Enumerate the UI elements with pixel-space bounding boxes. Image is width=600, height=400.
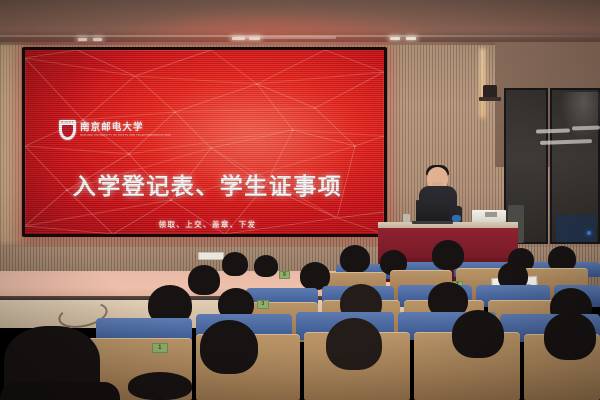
audience-head <box>452 310 504 358</box>
presenter-hand <box>452 215 461 222</box>
ceiling-light <box>78 38 87 41</box>
wall-speaker-bracket <box>479 97 501 101</box>
ceiling-light <box>232 37 245 40</box>
ceiling-light <box>93 38 102 41</box>
seat-number-tag: 3 <box>257 300 269 309</box>
wall-outlet-plate <box>198 252 224 260</box>
led-screen: N J U P T 南京邮电大学 NANJING UNIVERSITY OF P… <box>25 50 384 234</box>
status-led-icon <box>587 231 591 235</box>
seat-number-tag: 1 <box>152 343 168 353</box>
audience-head <box>326 318 382 370</box>
audience-head <box>432 240 464 270</box>
university-name-en: NANJING UNIVERSITY OF POSTS AND TELECOMM… <box>80 134 171 137</box>
slide-title: 入学登记表、学生证事项 <box>25 167 384 201</box>
audience-head <box>340 245 370 273</box>
wall-strip-light <box>480 48 485 118</box>
audience-head-foreground <box>128 372 192 400</box>
podium-box-label <box>485 212 497 217</box>
ceiling-light <box>249 37 260 40</box>
lecture-hall-scene: N J U P T 南京邮电大学 NANJING UNIVERSITY OF P… <box>0 0 600 400</box>
university-crest-icon: N J U P T <box>59 120 76 140</box>
laptop-screen[interactable] <box>416 200 449 223</box>
audience-shoulders <box>0 382 120 400</box>
audience-head <box>222 252 248 276</box>
glass-reflection <box>560 92 600 140</box>
slide-logo: N J U P T 南京邮电大学 NANJING UNIVERSITY OF P… <box>59 120 171 140</box>
audience-head <box>200 320 258 374</box>
led-screen-frame: N J U P T 南京邮电大学 NANJING UNIVERSITY OF P… <box>22 47 387 237</box>
seat-number-tag: 9 <box>279 271 290 279</box>
equipment-case <box>556 215 596 242</box>
podium-small-item <box>403 214 410 222</box>
crest-initials: N J U P T <box>61 121 74 124</box>
crest-inner <box>62 125 73 137</box>
university-name-cn: 南京邮电大学 <box>80 123 171 133</box>
slide-subtitle: 领取、上交、盖章、下发 <box>25 219 384 230</box>
audience-head <box>188 265 220 295</box>
ceiling-light <box>406 37 416 40</box>
audience-head <box>544 312 596 360</box>
ceiling-light <box>390 37 400 40</box>
audience-head <box>254 255 278 277</box>
logo-text-block: 南京邮电大学 NANJING UNIVERSITY OF POSTS AND T… <box>80 123 171 137</box>
laptop-base <box>412 221 453 224</box>
